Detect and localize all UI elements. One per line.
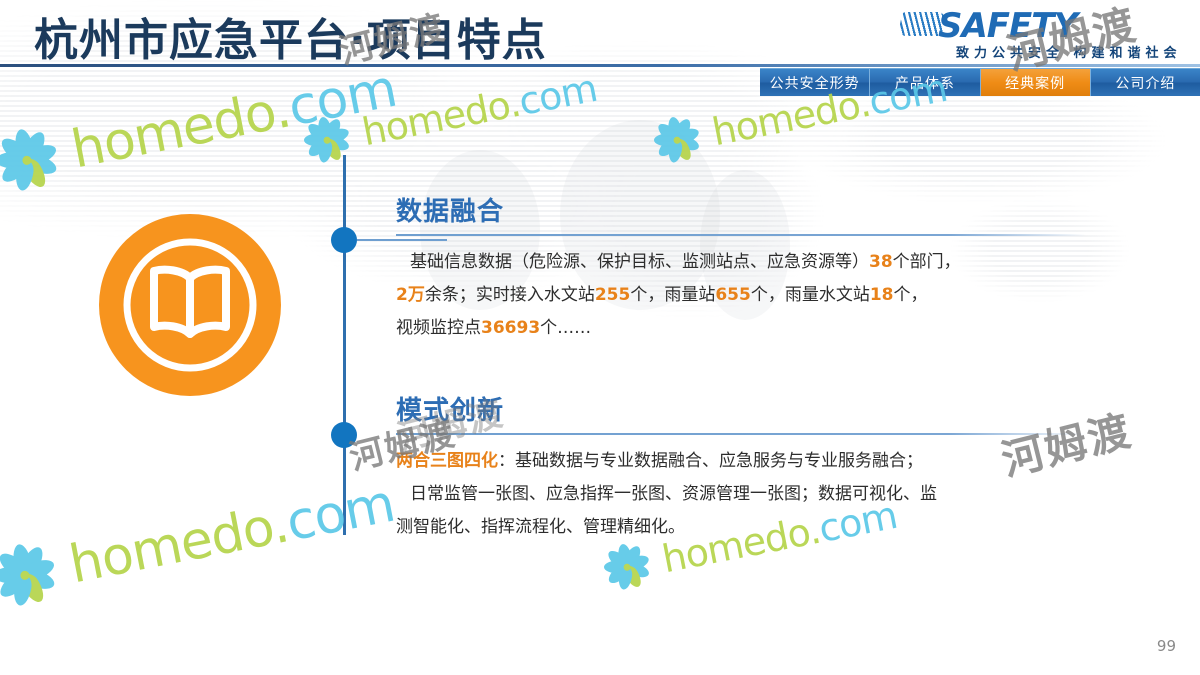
company-logo: SAFETY 致力公共安全 构建和谐社会: [900, 6, 1192, 62]
body-text: 个，雨量站: [630, 285, 715, 305]
nav-item-company-intro[interactable]: 公司介绍: [1091, 69, 1200, 96]
body-text: 视频监控点: [396, 318, 481, 338]
flower-petal: [17, 544, 47, 579]
section-heading: 数据融合: [396, 198, 1096, 228]
flower-petal: [324, 134, 350, 154]
highlight-value: 36693: [481, 318, 540, 338]
flower-petal: [0, 549, 30, 582]
highlight-value: 两合三图四化: [396, 451, 498, 471]
open-book-icon: [99, 214, 281, 396]
flower-core: [19, 570, 30, 581]
body-line: 基础信息数据（危险源、保护目标、监测站点、应急资源等）38个部门，: [396, 246, 1096, 279]
flower-logo-icon: [295, 108, 358, 171]
flower-petal: [624, 553, 650, 573]
section-body: 两合三图四化：基础数据与专业数据融合、应急服务与专业服务融合；日常监管一张图、应…: [396, 445, 1096, 544]
flower-petal: [24, 152, 59, 178]
flower-petal: [605, 562, 631, 587]
body-line: 视频监控点36693个……: [396, 312, 1096, 345]
body-line: 测智能化、指挥流程化、管理精细化。: [396, 511, 1096, 544]
body-text: 测智能化、指挥流程化、管理精细化。: [396, 517, 685, 537]
page-title: 杭州市应急平台·项目特点: [34, 4, 547, 68]
flower-logo-icon: [645, 108, 708, 171]
section-underline: [396, 234, 1086, 236]
flower-logo-icon: [0, 117, 70, 204]
flower-petal: [603, 560, 626, 573]
timeline-dot-1: [331, 227, 357, 253]
flower-petal: [666, 139, 682, 164]
top-nav[interactable]: 公共安全形势 产品体系 经典案例 公司介绍: [760, 68, 1200, 96]
flower-petal: [316, 116, 333, 141]
flower-logo-icon: [0, 532, 68, 619]
body-text: 余条；实时接入水文站: [425, 285, 595, 305]
highlight-value: 18: [870, 285, 894, 305]
watermark-text: homedo.com: [67, 59, 401, 181]
flower-petal: [324, 126, 350, 146]
body-text: 个，雨量水文站: [751, 285, 870, 305]
flower-petal: [0, 154, 32, 187]
flower-petal: [621, 544, 644, 570]
body-text: 基础信息数据（危险源、保护目标、监测站点、应急资源等）: [410, 252, 869, 272]
body-text: 个，: [894, 285, 928, 305]
flower-petal: [13, 159, 35, 192]
flower-core: [322, 136, 330, 144]
logo-tagline: 致力公共安全 构建和谐社会: [956, 42, 1182, 61]
flower-petal: [624, 561, 650, 581]
flower-petal: [671, 117, 694, 143]
watermark-text: homedo.com: [359, 66, 601, 155]
flower-petal: [0, 566, 24, 584]
flower-petal: [23, 141, 58, 168]
flower-petal: [17, 571, 48, 606]
flower-petal: [12, 128, 35, 162]
nav-item-classic-cases[interactable]: 经典案例: [981, 69, 1091, 96]
flower-petal: [655, 135, 681, 160]
flower-petal: [616, 543, 633, 568]
flower-logo-icon: [595, 535, 658, 598]
section-body: 基础信息数据（危险源、保护目标、监测站点、应急资源等）38个部门，2万余条；实时…: [396, 246, 1096, 345]
flower-petal: [10, 543, 33, 577]
flower-petal: [303, 133, 326, 146]
highlight-value: 38: [869, 252, 893, 272]
feature-icon-badge: [99, 214, 281, 396]
body-line: 2万余条；实时接入水文站255个，雨量站655个，雨量水文站18个，: [396, 279, 1096, 312]
flower-petal: [666, 116, 683, 141]
flower-petal: [316, 139, 332, 164]
highlight-value: 2万: [396, 285, 425, 305]
flower-petal: [671, 137, 694, 163]
flower-petal: [305, 135, 331, 160]
logo-wordmark: SAFETY: [938, 6, 1077, 46]
timeline-dot-2: [331, 422, 357, 448]
flower-petal: [0, 151, 26, 169]
flower-petal: [674, 126, 700, 146]
body-line: 两合三图四化：基础数据与专业数据融合、应急服务与专业服务融合；: [396, 445, 1096, 478]
flower-petal: [0, 134, 32, 167]
flower-petal: [321, 137, 344, 163]
flower-petal: [321, 117, 344, 143]
section-heading: 模式创新: [396, 397, 1096, 427]
watermark-text: homedo.com: [65, 474, 399, 596]
highlight-value: 655: [715, 285, 751, 305]
section-data-fusion: 数据融合 基础信息数据（危险源、保护目标、监测站点、应急资源等）38个部门，2万…: [396, 198, 1096, 345]
body-text: 个……: [540, 318, 591, 338]
flower-petal: [616, 566, 632, 591]
flower-petal: [605, 547, 631, 572]
flower-core: [672, 136, 680, 144]
flower-petal: [19, 129, 49, 164]
section-model-innovation: 模式创新 两合三图四化：基础数据与专业数据融合、应急服务与专业服务融合；日常监管…: [396, 397, 1096, 544]
body-text: ：基础数据与专业数据融合、应急服务与专业服务融合；: [498, 451, 923, 471]
flower-petal: [674, 134, 700, 154]
flower-petal: [621, 564, 644, 590]
body-line: 日常监管一张图、应急指挥一张图、资源管理一张图；数据可视化、监: [396, 478, 1096, 511]
flower-petal: [305, 120, 331, 145]
flower-petal: [653, 133, 676, 146]
flower-core: [21, 155, 32, 166]
slide-canvas: 杭州市应急平台·项目特点 SAFETY 致力公共安全 构建和谐社会 公共安全形势…: [0, 0, 1200, 675]
timeline-axis: [343, 155, 346, 535]
nav-item-product-system[interactable]: 产品体系: [870, 69, 980, 96]
flower-core: [622, 563, 630, 571]
watermark-homedo: homedo.com: [295, 61, 601, 172]
nav-item-public-safety[interactable]: 公共安全形势: [760, 69, 870, 96]
flower-petal: [0, 569, 30, 602]
watermark-homedo: homedo.com: [0, 467, 400, 618]
flower-petal: [655, 120, 681, 145]
flower-petal: [19, 156, 50, 191]
section-underline: [396, 433, 1086, 435]
body-text: 个部门，: [893, 252, 961, 272]
flower-petal: [11, 574, 33, 607]
flower-petal: [21, 556, 56, 583]
body-text: 日常监管一张图、应急指挥一张图、资源管理一张图；数据可视化、监: [410, 484, 937, 504]
page-number: 99: [1157, 637, 1176, 655]
highlight-value: 255: [595, 285, 631, 305]
flower-petal: [22, 567, 57, 593]
